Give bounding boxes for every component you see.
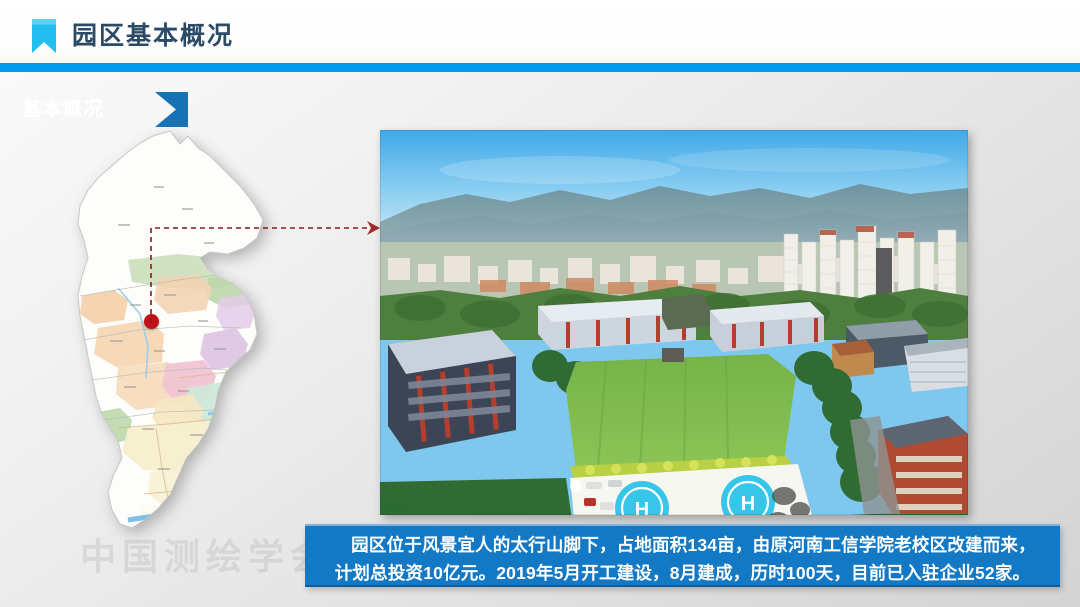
header-accent-rule	[0, 63, 1080, 72]
region-map	[58, 128, 288, 558]
section-tab-label: 基本概况	[22, 92, 104, 127]
page-title: 园区基本概况	[72, 18, 234, 54]
aerial-photo: H H	[380, 130, 968, 515]
map-location-marker	[144, 314, 159, 329]
svg-text:H: H	[741, 493, 755, 515]
bookmark-icon	[30, 18, 58, 54]
caption-line-2: 计划总投资10亿元。2019年5月开工建设，8月建成，历时100天，目前已入驻企…	[315, 559, 1050, 587]
caption-line-1: 园区位于风景宜人的太行山脚下，占地面积134亩，由原河南工信学院老校区改建而来，	[315, 531, 1050, 559]
svg-text:H: H	[635, 499, 649, 515]
photo-caption: 园区位于风景宜人的太行山脚下，占地面积134亩，由原河南工信学院老校区改建而来，…	[305, 524, 1060, 587]
slide: 中国测绘学会2020学术年会 园区基本概况 基本概况	[0, 0, 1080, 607]
